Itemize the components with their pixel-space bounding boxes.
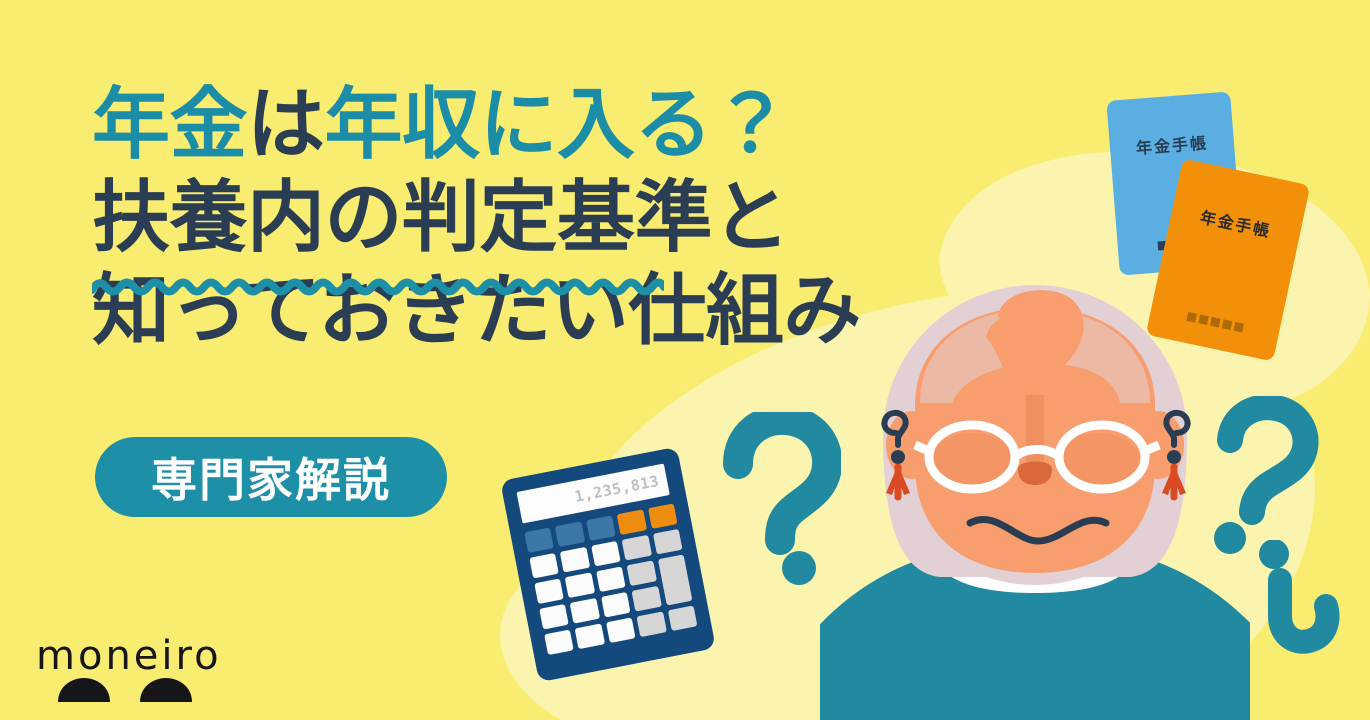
calculator-illustration: 1,235,813 [500, 447, 716, 683]
headline-line-1-part-2: は [247, 80, 325, 168]
moneiro-logo-mark [36, 676, 226, 702]
banner-canvas: 年金手帳 年金手帳 1,235,813 [0, 0, 1370, 720]
pension-handbook-blue-title: 年金手帳 [1109, 127, 1235, 161]
headline-line-3: 知っておきたい仕組み [92, 264, 882, 357]
moneiro-logo[interactable]: moneiro [36, 636, 226, 700]
moneiro-logo-text: moneiro [36, 636, 226, 676]
headline-line-1: 年金は年収に入る？ [92, 78, 882, 171]
headline-block: 年金は年収に入る？ 扶養内の判定基準と 知っておきたい仕組み [92, 78, 882, 356]
expert-commentary-badge[interactable]: 専門家解説 [95, 437, 447, 517]
character-illustration [820, 285, 1250, 720]
pension-handbook-orange-title: 年金手帳 [1170, 198, 1302, 249]
headline-line-2: 扶養内の判定基準と [92, 171, 882, 264]
question-mark-right-inverted-icon [1250, 540, 1345, 670]
headline-line-1-part-3: 年収に入る？ [325, 80, 790, 168]
pension-handbook-orange-dashes [1150, 304, 1279, 340]
expert-commentary-badge-label: 専門家解説 [151, 444, 391, 510]
headline-line-1-part-1: 年金 [92, 80, 247, 168]
